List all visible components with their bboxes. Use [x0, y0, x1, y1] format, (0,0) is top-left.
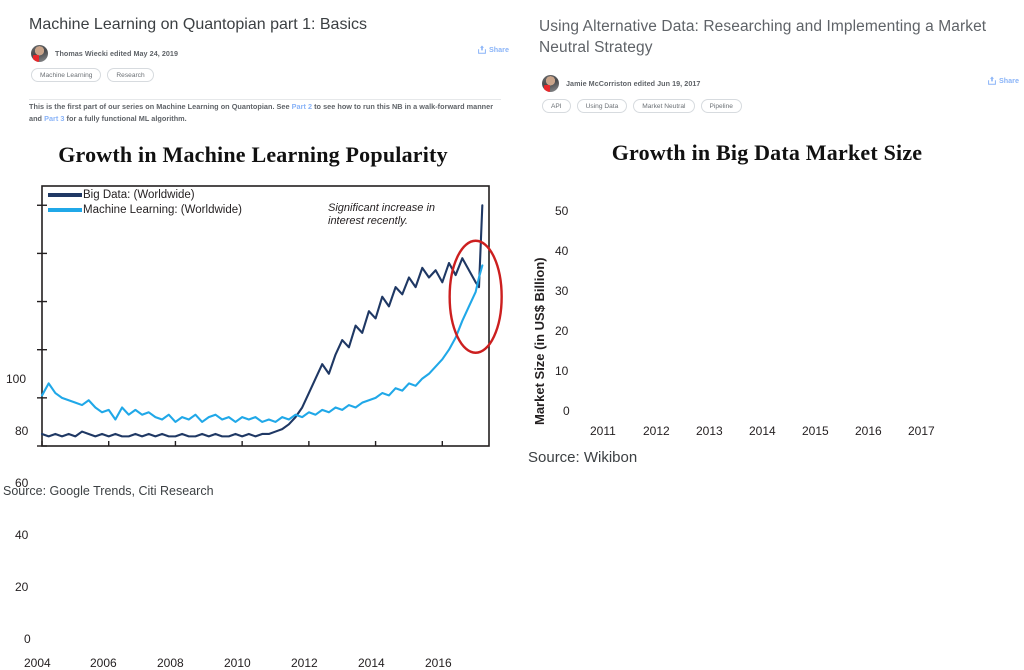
tag-list: Machine Learning Research — [31, 68, 154, 82]
bar-plot-area — [512, 170, 1024, 460]
intro-text-3: for a fully functional ML algorithm. — [65, 114, 187, 123]
x-tick-2014: 2014 — [358, 656, 385, 670]
legend-swatch-machine-learning — [48, 208, 82, 212]
left-chart-title: Growth in Machine Learning Popularity — [8, 142, 498, 168]
link-part-3[interactable]: Part 3 — [44, 114, 64, 123]
byline-text: Thomas Wiecki edited May 24, 2019 — [55, 49, 178, 58]
divider — [29, 99, 501, 100]
byline: Jamie McCorriston edited Jun 19, 2017 — [542, 75, 700, 92]
x-tick-2010: 2010 — [224, 656, 251, 670]
avatar-badge — [544, 85, 550, 92]
share-icon — [988, 76, 996, 85]
avatar — [542, 75, 559, 92]
share-icon — [478, 45, 486, 54]
share-button[interactable]: Share — [478, 45, 509, 54]
x-tick-2006: 2006 — [90, 656, 117, 670]
y-tick-0: 0 — [24, 632, 31, 646]
chart-annotation: Significant increase in interest recentl… — [328, 202, 458, 228]
legend-label-big-data: Big Data: (Worldwide) — [82, 189, 195, 201]
tag-market-neutral[interactable]: Market Neutral — [633, 99, 694, 113]
intro-text-1: This is the first part of our series on … — [29, 102, 292, 111]
byline-text: Jamie McCorriston edited Jun 19, 2017 — [566, 79, 700, 88]
tag-machine-learning[interactable]: Machine Learning — [31, 68, 101, 82]
x-tick-2012: 2012 — [291, 656, 318, 670]
tag-pipeline[interactable]: Pipeline — [701, 99, 742, 113]
x-tick-2008: 2008 — [157, 656, 184, 670]
legend-item-machine-learning: Machine Learning: (Worldwide) — [48, 204, 242, 216]
page-title: Using Alternative Data: Researching and … — [539, 16, 1011, 58]
avatar-badge — [33, 55, 39, 62]
y-tick-40: 40 — [15, 528, 28, 542]
left-article-panel: Machine Learning on Quantopian part 1: B… — [0, 0, 512, 516]
y-tick-20: 20 — [15, 580, 28, 594]
byline: Thomas Wiecki edited May 24, 2019 — [31, 45, 178, 62]
left-chart-source: Source: Google Trends, Citi Research — [3, 484, 214, 498]
bar-chart-big-data-market: Market Size (in US$ Billion) 50 40 30 20… — [512, 170, 1024, 460]
page-title: Machine Learning on Quantopian part 1: B… — [29, 16, 459, 34]
legend-item-big-data: Big Data: (Worldwide) — [48, 189, 242, 201]
legend-swatch-big-data — [48, 193, 82, 197]
tag-api[interactable]: API — [542, 99, 571, 113]
share-label: Share — [489, 45, 509, 54]
right-chart-title: Growth in Big Data Market Size — [532, 140, 1002, 166]
tag-list: API Using Data Market Neutral Pipeline — [542, 99, 742, 113]
x-tick-2016: 2016 — [425, 656, 452, 670]
share-label: Share — [999, 76, 1019, 85]
share-button[interactable]: Share — [988, 76, 1019, 85]
line-chart-google-trends: 100 80 60 40 20 0 2004 2006 2008 2010 20… — [0, 170, 512, 460]
legend-label-machine-learning: Machine Learning: (Worldwide) — [82, 204, 242, 216]
tag-research[interactable]: Research — [107, 68, 153, 82]
link-part-2[interactable]: Part 2 — [292, 102, 312, 111]
x-tick-2004: 2004 — [24, 656, 51, 670]
tag-using-data[interactable]: Using Data — [577, 99, 628, 113]
right-article-panel: Using Alternative Data: Researching and … — [512, 0, 1024, 516]
right-chart-source: Source: Wikibon — [528, 449, 637, 466]
legend: Big Data: (Worldwide) Machine Learning: … — [48, 189, 242, 216]
avatar — [31, 45, 48, 62]
article-intro-paragraph: This is the first part of our series on … — [29, 101, 504, 124]
